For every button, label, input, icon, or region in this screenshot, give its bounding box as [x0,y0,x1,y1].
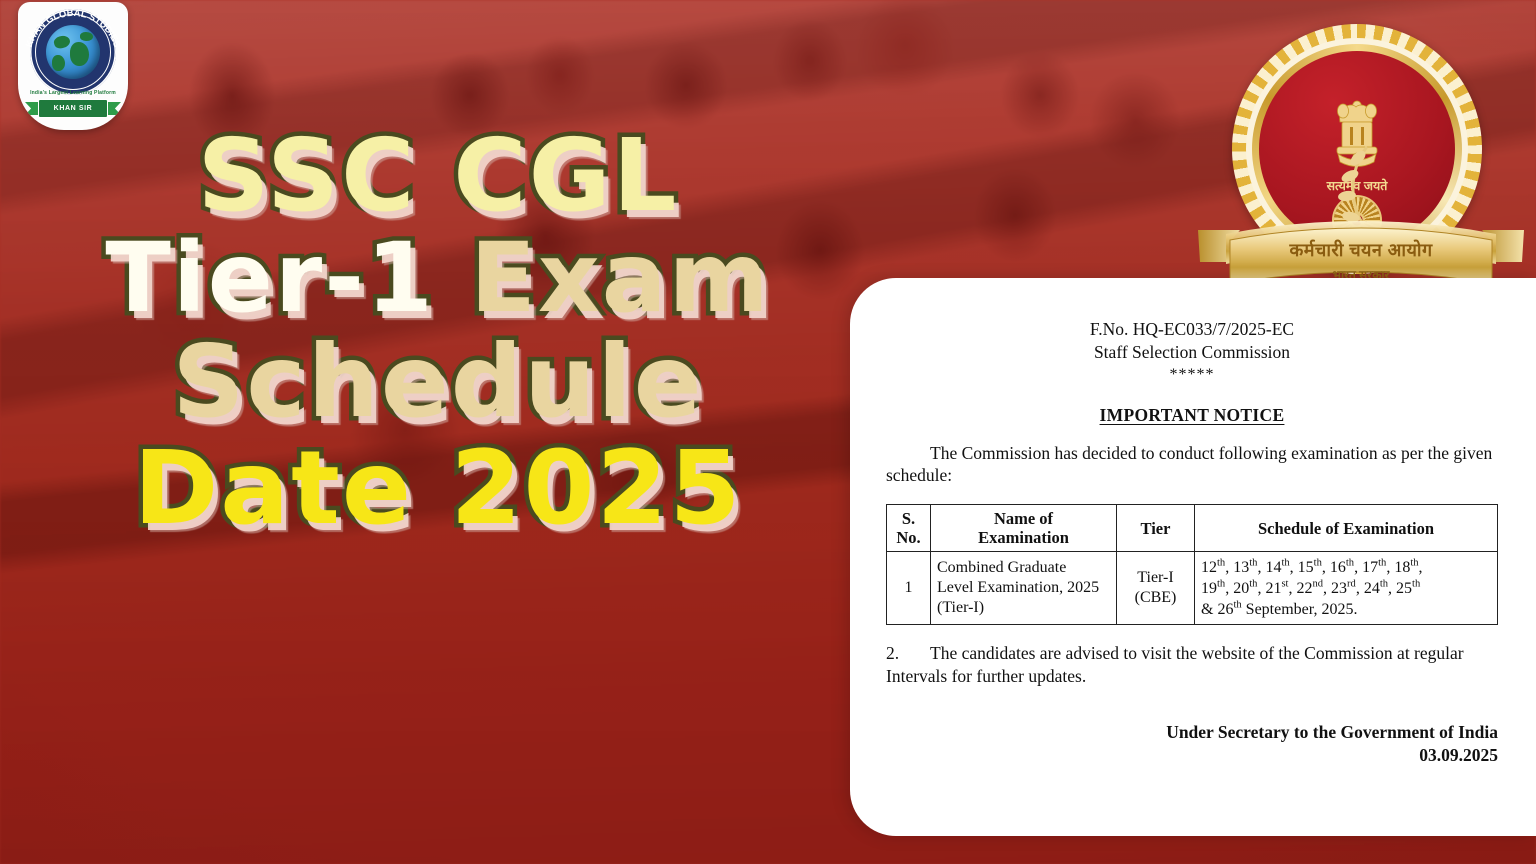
table-row: 1 Combined Graduate Level Examination, 2… [887,552,1498,624]
table-header-row: S.No. Name ofExamination Tier Schedule o… [887,505,1498,552]
notice-body: F.No. HQ-EC033/7/2025-EC Staff Selection… [886,318,1498,766]
notice-card: F.No. HQ-EC033/7/2025-EC Staff Selection… [850,278,1536,836]
cell-exam-name: Combined Graduate Level Examination, 202… [931,552,1117,624]
notice-paragraph-2: 2.The candidates are advised to visit th… [886,642,1498,688]
notice-date: 03.09.2025 [886,745,1498,766]
notice-signature: Under Secretary to the Government of Ind… [886,721,1498,744]
ssc-emblem: STAFF SELECTION COMMISSION [1196,16,1526,306]
exam-name-line-1: Combined Graduate [937,559,1066,576]
schedule-dates-text: 12th, 13th, 14th, 15th, 16th, 17th, 18th… [1201,559,1423,618]
exam-name-line-3: (Tier-I) [937,599,984,616]
globe-icon [46,25,100,79]
th-tier: Tier [1117,505,1195,552]
notice-stars: ***** [886,366,1498,384]
exam-schedule-table: S.No. Name ofExamination Tier Schedule o… [886,504,1498,625]
notice-title: IMPORTANT NOTICE [886,405,1498,426]
notice-paragraph-1: The Commission has decided to conduct fo… [886,442,1498,488]
logo-tagline: India's Largest Learning Platform [18,90,128,96]
th-schedule-of-examination: Schedule of Examination [1195,505,1498,552]
logo-ribbon-label: KHAN SIR [38,99,108,118]
notice-organisation: Staff Selection Commission [886,341,1498,364]
emblem-ribbon-text: कर्मचारी चयन आयोग [1196,238,1526,262]
cell-tier: Tier-I (CBE) [1117,552,1195,624]
logo-ribbon: KHAN SIR [25,99,121,119]
exam-name-line-2: Level Examination, 2025 [937,579,1099,596]
cell-serial-no: 1 [887,552,931,624]
poster-canvas: KHAN GLOBAL STUDIES India's Largest Lear… [0,0,1536,864]
th-serial-no: S.No. [887,505,931,552]
paragraph-2-number: 2. [886,642,930,665]
tier-line-1: Tier-I [1137,569,1173,586]
khan-global-studies-logo: KHAN GLOBAL STUDIES India's Largest Lear… [18,2,128,130]
notice-file-number: F.No. HQ-EC033/7/2025-EC [886,318,1498,341]
paragraph-2-text: The candidates are advised to visit the … [886,643,1464,686]
tier-line-2: (CBE) [1135,589,1177,606]
cell-schedule-dates: 12th, 13th, 14th, 15th, 16th, 17th, 18th… [1195,552,1498,624]
th-name-of-examination: Name ofExamination [931,505,1117,552]
